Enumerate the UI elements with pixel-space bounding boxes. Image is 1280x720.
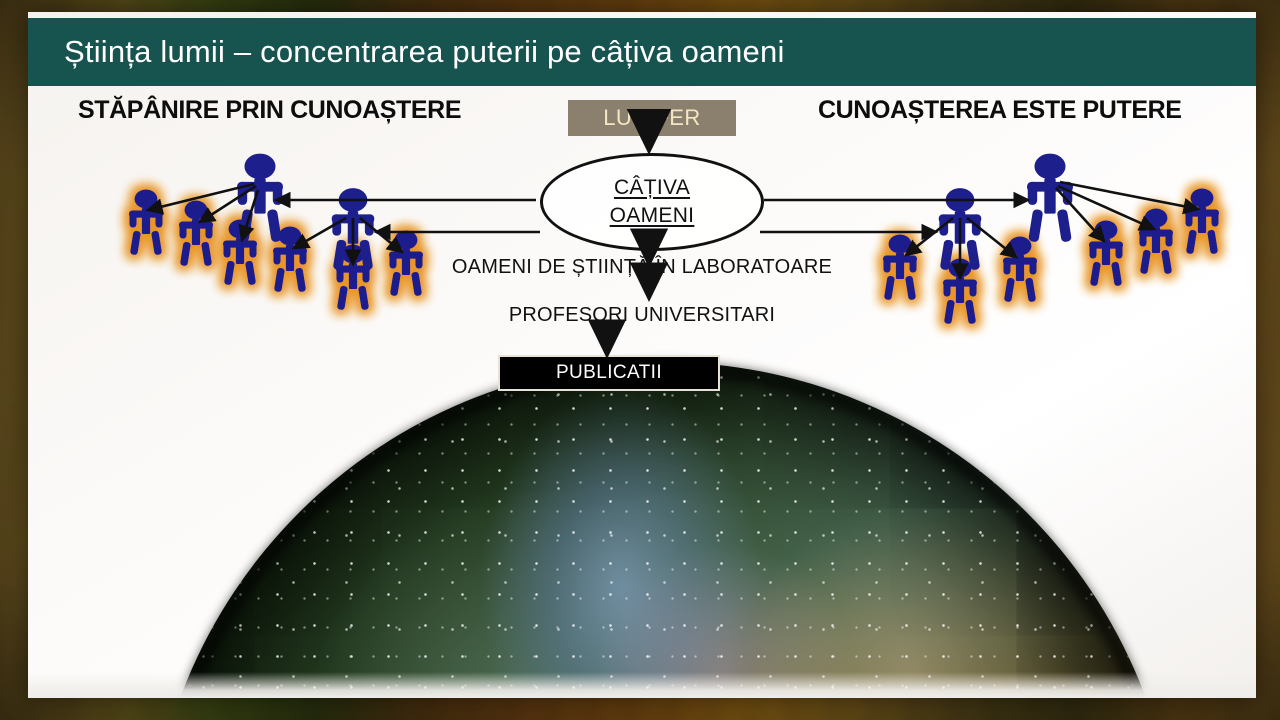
arrow-icon-group <box>148 136 1198 353</box>
presentation-slide: Știința lumii – concentrarea puterii pe … <box>28 12 1256 698</box>
slide-canvas: Știința lumii – concentrarea puterii pe … <box>0 0 1280 720</box>
arrow-icon-leader3-to-follower1 <box>906 218 953 255</box>
arrow-icon-leader1-to-follower3 <box>242 190 258 240</box>
arrow-icon-leader3-to-follower3 <box>967 218 1016 257</box>
arrow-icon-leader2-to-follower1 <box>294 218 346 248</box>
arrows-layer <box>28 12 1256 698</box>
arrow-icon-leader2-to-follower3 <box>360 218 402 252</box>
